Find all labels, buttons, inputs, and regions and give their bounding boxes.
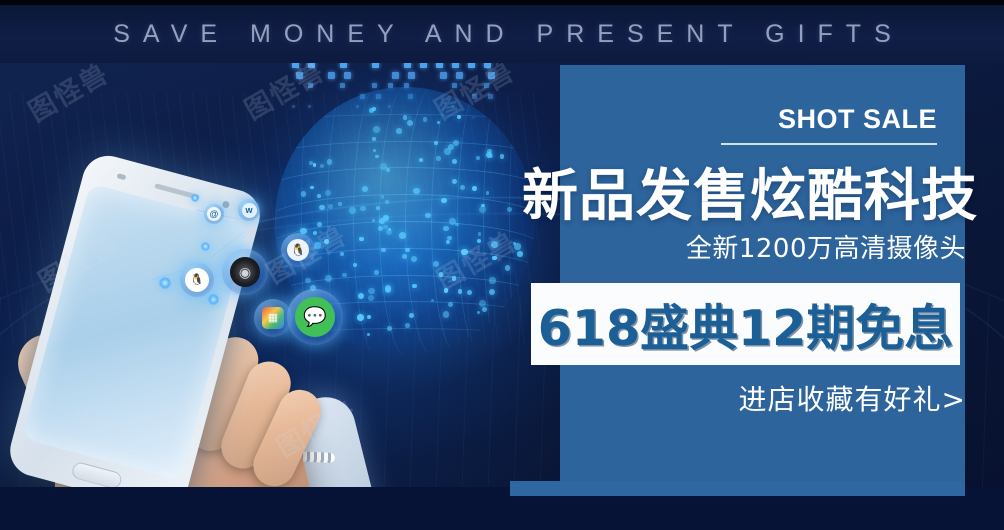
network-node [208,294,219,305]
camera-lens-icon: ◉ [222,249,268,295]
qq-white-icon: 🐧 [281,233,315,267]
top-black-strip [0,0,1004,5]
promo-banner: SAVE MONEY AND PRESENT GIFTS [0,0,1004,530]
weibo-icon: w [238,199,260,221]
phone-home-button [70,461,123,487]
at-sign-icon: @ [204,204,224,224]
subheadline: 全新1200万高清摄像头 [686,228,966,265]
promo-text: 618盛典12期免息 [531,283,960,365]
headline: 新品发售炫酷科技 [522,151,978,232]
qq-penguin-icon: 🐧 [180,263,214,297]
network-node [191,194,199,202]
wechat-icon: 💬 [287,289,343,345]
eyebrow-label: SHOT SALE [778,104,937,135]
header-tagline: SAVE MONEY AND PRESENT GIFTS [0,5,1004,63]
promo-panel-foot-strip [510,481,965,496]
network-node [201,242,210,251]
network-node [159,277,171,289]
phone-sensor [116,173,126,180]
cta-link[interactable]: 进店收藏有好礼> [739,378,966,418]
phone-front-camera-icon [221,200,230,209]
divider-rule [721,143,937,145]
